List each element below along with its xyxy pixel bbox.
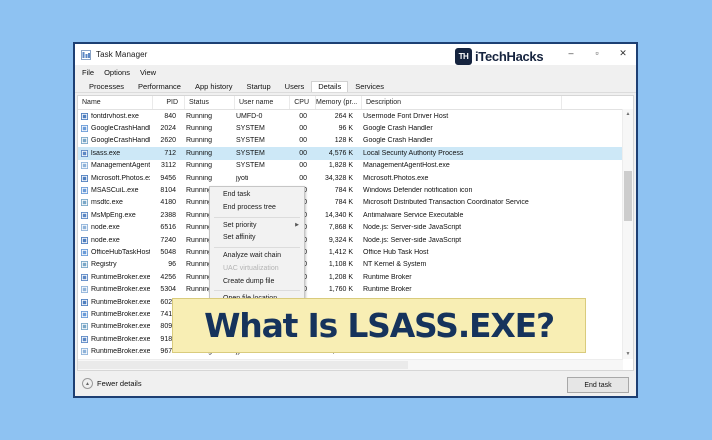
context-menu-separator — [214, 247, 300, 248]
cell-user-name: SYSTEM — [232, 137, 287, 144]
task-manager-icon — [81, 50, 91, 60]
table-row[interactable]: GoogleCrashHandler...2620RunningSYSTEM00… — [78, 135, 633, 147]
context-menu-item-label: End process tree — [223, 204, 276, 211]
horizontal-scrollbar[interactable] — [78, 359, 623, 370]
cell-name: MsMpEng.exe — [78, 212, 150, 219]
cell-cpu: 00 — [287, 162, 313, 169]
vertical-scroll-thumb[interactable] — [624, 171, 632, 221]
context-menu-item-label: UAC virtualization — [223, 265, 279, 272]
scroll-down-arrow[interactable]: ▼ — [623, 349, 633, 359]
cell-pid: 5304 — [150, 286, 182, 293]
cell-cpu: 00 — [287, 150, 313, 157]
maximize-icon: ▫ — [595, 49, 598, 58]
cell-description: ManagementAgentHost.exe — [359, 162, 633, 169]
cell-name: RuntimeBroker.exe — [78, 311, 150, 318]
table-row[interactable]: Registry96RunningSYSTEM001,108 KNT Kerne… — [78, 259, 633, 271]
cell-pid: 8104 — [150, 187, 182, 194]
cell-memory: 1,208 K — [313, 274, 359, 281]
column-header-memory-pr[interactable]: Memory (pr... — [316, 96, 362, 109]
table-row[interactable]: fontdrvhost.exe840RunningUMFD-000264 KUs… — [78, 110, 633, 122]
cell-name: Registry — [78, 261, 150, 268]
table-row[interactable]: OfficeHubTaskHost...5048Runningjyoti001,… — [78, 246, 633, 258]
cell-user-name: UMFD-0 — [232, 113, 287, 120]
cell-memory: 7,868 K — [313, 224, 359, 231]
tab-app-history[interactable]: App history — [188, 81, 240, 93]
context-menu-item-set-priority[interactable]: Set priority▶ — [210, 220, 304, 233]
cell-pid: 2620 — [150, 137, 182, 144]
cell-name: node.exe — [78, 237, 150, 244]
process-icon — [81, 311, 88, 318]
column-header-status[interactable]: Status — [185, 96, 235, 109]
process-icon — [81, 299, 88, 306]
process-icon — [81, 336, 88, 343]
cell-name: GoogleCrashHandler... — [78, 125, 150, 132]
process-icon — [81, 199, 88, 206]
cell-name-text: RuntimeBroker.exe — [91, 274, 150, 281]
cell-memory: 1,108 K — [313, 261, 359, 268]
cell-name-text: msdtc.exe — [91, 199, 123, 206]
cell-status: Running — [182, 137, 232, 144]
context-menu-item-label: Create dump file — [223, 278, 274, 285]
menu-item-file[interactable]: File — [82, 68, 94, 77]
process-icon — [81, 137, 88, 144]
tab-details[interactable]: Details — [311, 81, 348, 93]
cell-name: RuntimeBroker.exe — [78, 286, 150, 293]
context-menu-item-label: Set affinity — [223, 234, 256, 241]
table-row[interactable]: MSASCuiL.exe8104Runningjyoti00784 KWindo… — [78, 184, 633, 196]
cell-status: Running — [182, 150, 232, 157]
horizontal-scroll-thumb[interactable] — [78, 361, 408, 369]
cell-pid: 840 — [150, 113, 182, 120]
itechhacks-logo: TH iTechHacks — [455, 48, 543, 65]
cell-memory: 1,760 K — [313, 286, 359, 293]
cell-pid: 4180 — [150, 199, 182, 206]
itechhacks-logo-mark: TH — [455, 48, 472, 65]
process-icon — [81, 125, 88, 132]
context-menu-item-end-process-tree[interactable]: End process tree — [210, 202, 304, 215]
window-titlebar: Task Manager TH iTechHacks – ▫ ✕ — [75, 44, 636, 65]
cell-name: RuntimeBroker.exe — [78, 299, 150, 306]
cell-pid: 712 — [150, 150, 182, 157]
cell-description: Antimalware Service Executable — [359, 212, 633, 219]
menu-bar: FileOptionsView — [75, 65, 636, 79]
table-row[interactable]: RuntimeBroker.exe4256Runningjyoti001,208… — [78, 271, 633, 283]
cell-name: OfficeHubTaskHost... — [78, 249, 150, 256]
cell-pid: 2024 — [150, 125, 182, 132]
fewer-details-label: Fewer details — [97, 379, 142, 388]
cell-user-name: SYSTEM — [232, 150, 287, 157]
menu-item-view[interactable]: View — [140, 68, 156, 77]
table-row[interactable]: lsass.exe712RunningSYSTEM004,576 KLocal … — [78, 147, 633, 159]
table-row[interactable]: node.exe7240Runningjyoti009,324 KNode.js… — [78, 234, 633, 246]
process-icon — [81, 113, 88, 120]
cell-description: Runtime Broker — [359, 274, 633, 281]
process-icon — [81, 249, 88, 256]
cell-name-text: OfficeHubTaskHost... — [91, 249, 150, 256]
vertical-scrollbar[interactable]: ▲ ▼ — [622, 109, 633, 359]
process-icon — [81, 224, 88, 231]
context-menu-item-label: End task — [223, 191, 250, 198]
cell-cpu: 00 — [287, 113, 313, 120]
submenu-arrow-icon: ▶ — [295, 222, 299, 228]
cell-user-name: SYSTEM — [232, 125, 287, 132]
cell-name: RuntimeBroker.exe — [78, 323, 150, 330]
cell-pid: 4256 — [150, 274, 182, 281]
headline-banner: What Is LSASS.EXE? — [172, 298, 586, 353]
cell-description: Usermode Font Driver Host — [359, 113, 633, 120]
process-icon — [81, 162, 88, 169]
cell-description: Microsoft.Photos.exe — [359, 175, 633, 182]
cell-memory: 128 K — [313, 137, 359, 144]
context-menu-separator — [214, 290, 300, 291]
cell-pid: 9456 — [150, 175, 182, 182]
cell-description: Microsoft Distributed Transaction Coordi… — [359, 199, 633, 206]
cell-name-text: RuntimeBroker.exe — [91, 348, 150, 355]
minimize-button[interactable]: – — [558, 44, 584, 65]
cell-memory: 4,576 K — [313, 150, 359, 157]
tab-performance[interactable]: Performance — [131, 81, 188, 93]
cell-name-text: GoogleCrashHandler... — [91, 125, 150, 132]
tab-strip: ProcessesPerformanceApp historyStartupUs… — [75, 79, 636, 93]
cell-name: Microsoft.Photos.exe — [78, 175, 150, 182]
cell-name: RuntimeBroker.exe — [78, 274, 150, 281]
cell-pid: 7240 — [150, 237, 182, 244]
process-icon — [81, 348, 88, 355]
column-header-pid[interactable]: PID — [153, 96, 185, 109]
cell-cpu: 00 — [287, 125, 313, 132]
cell-user-name: SYSTEM — [232, 162, 287, 169]
cell-memory: 264 K — [313, 113, 359, 120]
cell-pid: 5048 — [150, 249, 182, 256]
window-title: Task Manager — [96, 50, 147, 59]
cell-cpu: 00 — [287, 175, 313, 182]
cell-name-text: RuntimeBroker.exe — [91, 286, 150, 293]
cell-memory: 1,412 K — [313, 249, 359, 256]
cell-name: GoogleCrashHandler... — [78, 137, 150, 144]
column-header-name[interactable]: Name — [78, 96, 153, 109]
column-headers: NamePIDStatusUser nameCPUMemory (pr...De… — [78, 96, 633, 110]
cell-name-text: MsMpEng.exe — [91, 212, 136, 219]
cell-name-text: RuntimeBroker.exe — [91, 311, 150, 318]
cell-memory: 96 K — [313, 125, 359, 132]
tab-processes[interactable]: Processes — [82, 81, 131, 93]
table-row[interactable]: RuntimeBroker.exe5304Runningjyoti001,760… — [78, 283, 633, 295]
process-icon — [81, 286, 88, 293]
cell-cpu: 00 — [287, 137, 313, 144]
window-footer: ▲ Fewer details End task — [75, 371, 636, 396]
cell-pid: 6516 — [150, 224, 182, 231]
cell-pid: 96 — [150, 261, 182, 268]
process-icon — [81, 150, 88, 157]
cell-name-text: fontdrvhost.exe — [91, 113, 139, 120]
end-task-button[interactable]: End task — [567, 377, 629, 393]
process-icon — [81, 237, 88, 244]
tab-services[interactable]: Services — [348, 81, 391, 93]
process-icon — [81, 187, 88, 194]
context-menu-item-uac-virtualization: UAC virtualization — [210, 263, 304, 276]
context-menu-item-analyze-wait-chain[interactable]: Analyze wait chain — [210, 250, 304, 263]
cell-status: Running — [182, 113, 232, 120]
table-row[interactable]: node.exe6516Runningjyoti007,868 KNode.js… — [78, 222, 633, 234]
cell-description: Google Crash Handler — [359, 137, 633, 144]
table-row[interactable]: ManagementAgent...3112RunningSYSTEM001,8… — [78, 160, 633, 172]
cell-name: MSASCuiL.exe — [78, 187, 150, 194]
cell-description: NT Kernel & System — [359, 261, 633, 268]
cell-description: Node.js: Server-side JavaScript — [359, 224, 633, 231]
cell-user-name: jyoti — [232, 175, 287, 182]
table-row[interactable]: GoogleCrashHandler...2024RunningSYSTEM00… — [78, 122, 633, 134]
headline-text: What Is LSASS.EXE? — [204, 306, 554, 345]
menu-item-options[interactable]: Options — [104, 68, 130, 77]
scroll-up-arrow[interactable]: ▲ — [623, 109, 633, 119]
cell-description: Windows Defender notification icon — [359, 187, 633, 194]
close-icon: ✕ — [619, 49, 627, 58]
cell-description: Office Hub Task Host — [359, 249, 633, 256]
fewer-details-button[interactable]: ▲ Fewer details — [82, 378, 142, 389]
chevron-up-circle-icon: ▲ — [82, 378, 93, 389]
itechhacks-logo-text: iTechHacks — [475, 49, 543, 64]
cell-status: Running — [182, 162, 232, 169]
cell-memory: 1,828 K — [313, 162, 359, 169]
cell-name-text: MSASCuiL.exe — [91, 187, 138, 194]
process-icon — [81, 261, 88, 268]
context-menu-item-label: Analyze wait chain — [223, 252, 281, 259]
cell-name-text: GoogleCrashHandler... — [91, 137, 150, 144]
cell-memory: 9,324 K — [313, 237, 359, 244]
window-controls: – ▫ ✕ — [558, 44, 636, 65]
process-icon — [81, 175, 88, 182]
cell-name-text: node.exe — [91, 224, 120, 231]
screenshot-root: Task Manager TH iTechHacks – ▫ ✕ FileOpt… — [0, 0, 712, 440]
tab-users[interactable]: Users — [278, 81, 312, 93]
column-header-user-name[interactable]: User name — [235, 96, 290, 109]
cell-name: RuntimeBroker.exe — [78, 336, 150, 343]
cell-description: Node.js: Server-side JavaScript — [359, 237, 633, 244]
context-menu-item-set-affinity[interactable]: Set affinity — [210, 232, 304, 245]
cell-name-text: Registry — [91, 261, 117, 268]
cell-pid: 3112 — [150, 162, 182, 169]
cell-status: Running — [182, 125, 232, 132]
column-header-description[interactable]: Description — [362, 96, 562, 109]
cell-name-text: node.exe — [91, 237, 120, 244]
cell-name: lsass.exe — [78, 150, 150, 157]
process-icon — [81, 274, 88, 281]
cell-name-text: Microsoft.Photos.exe — [91, 175, 150, 182]
cell-memory: 14,340 K — [313, 212, 359, 219]
cell-name: node.exe — [78, 224, 150, 231]
cell-name-text: RuntimeBroker.exe — [91, 336, 150, 343]
cell-description: Google Crash Handler — [359, 125, 633, 132]
cell-name-text: ManagementAgent... — [91, 162, 150, 169]
column-header-cpu[interactable]: CPU — [290, 96, 316, 109]
cell-name: RuntimeBroker.exe — [78, 348, 150, 355]
cell-status: Running — [182, 175, 232, 182]
context-menu-separator — [214, 217, 300, 218]
cell-description: Runtime Broker — [359, 286, 633, 293]
close-button[interactable]: ✕ — [610, 44, 636, 65]
cell-name: ManagementAgent... — [78, 162, 150, 169]
cell-name: fontdrvhost.exe — [78, 113, 150, 120]
cell-memory: 784 K — [313, 199, 359, 206]
process-icon — [81, 323, 88, 330]
context-menu-item-label: Set priority — [223, 222, 256, 229]
minimize-icon: – — [568, 49, 573, 58]
cell-name-text: RuntimeBroker.exe — [91, 323, 150, 330]
cell-pid: 2388 — [150, 212, 182, 219]
process-icon — [81, 212, 88, 219]
tab-startup[interactable]: Startup — [239, 81, 277, 93]
maximize-button[interactable]: ▫ — [584, 44, 610, 65]
table-row[interactable]: Microsoft.Photos.exe9456Runningjyoti0034… — [78, 172, 633, 184]
context-menu-item-end-task[interactable]: End task — [210, 189, 304, 202]
cell-name: msdtc.exe — [78, 199, 150, 206]
cell-description: Local Security Authority Process — [359, 150, 633, 157]
context-menu-item-create-dump-file[interactable]: Create dump file — [210, 276, 304, 289]
cell-memory: 34,328 K — [313, 175, 359, 182]
cell-name-text: RuntimeBroker.exe — [91, 299, 150, 306]
cell-memory: 784 K — [313, 187, 359, 194]
table-row[interactable]: MsMpEng.exe2388RunningSYSTEM0014,340 KAn… — [78, 209, 633, 221]
table-row[interactable]: msdtc.exe4180RunningNETWORK...00784 KMic… — [78, 197, 633, 209]
cell-name-text: lsass.exe — [91, 150, 120, 157]
